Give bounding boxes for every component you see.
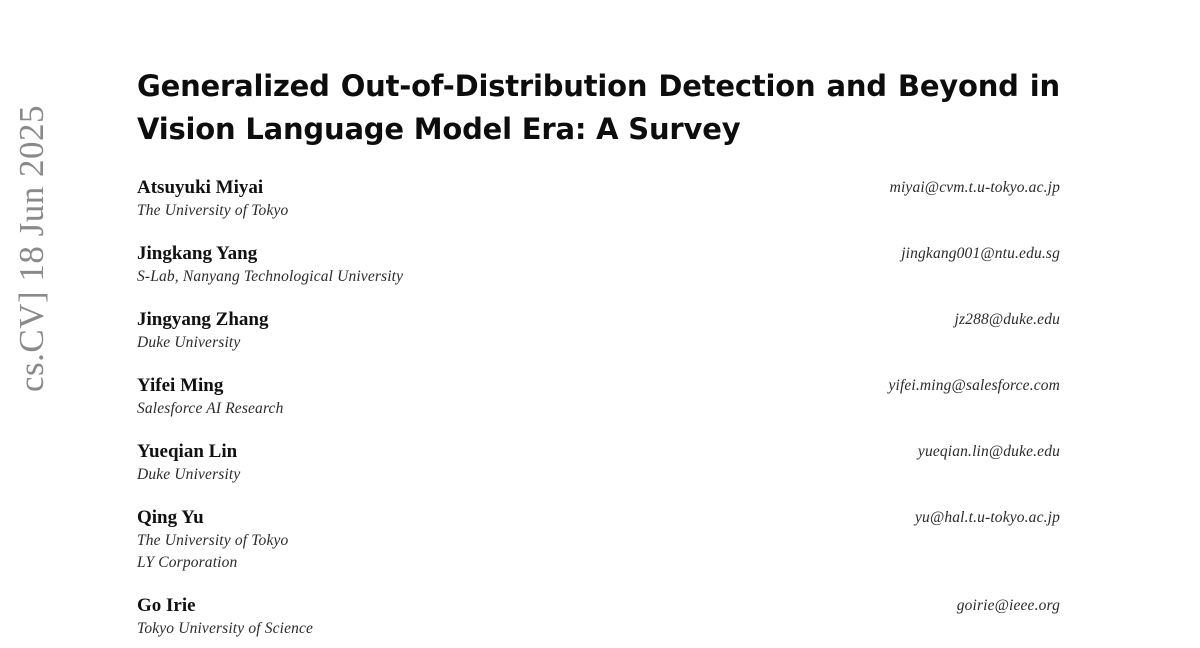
author-affiliation: Tokyo University of Science <box>137 618 1060 640</box>
author-affiliations: The University of TokyoLY Corporation <box>137 530 1060 574</box>
arxiv-identifier-stamp: cs.CV] 18 Jun 2025 <box>0 52 62 392</box>
author-affiliations: Duke University <box>137 464 1060 486</box>
author-block: Qing YuThe University of TokyoLY Corpora… <box>137 506 1060 574</box>
author-list: Atsuyuki MiyaiThe University of Tokyomiy… <box>137 176 1060 640</box>
author-affiliation: The University of Tokyo <box>137 530 1060 552</box>
author-affiliation: Duke University <box>137 332 1060 354</box>
author-block: Yueqian LinDuke Universityyueqian.lin@du… <box>137 440 1060 486</box>
author-block: Yifei MingSalesforce AI Researchyifei.mi… <box>137 374 1060 420</box>
author-email[interactable]: yueqian.lin@duke.edu <box>918 441 1060 463</box>
author-affiliations: Duke University <box>137 332 1060 354</box>
author-affiliations: Salesforce AI Research <box>137 398 1060 420</box>
author-name: Go Irie <box>137 594 1060 617</box>
author-affiliation: The University of Tokyo <box>137 200 1060 222</box>
author-affiliations: Tokyo University of Science <box>137 618 1060 640</box>
author-affiliation: Duke University <box>137 464 1060 486</box>
author-email[interactable]: yifei.ming@salesforce.com <box>888 375 1060 397</box>
author-affiliations: The University of Tokyo <box>137 200 1060 222</box>
arxiv-stamp-text: cs.CV] 18 Jun 2025 <box>14 105 49 392</box>
page-title-line-2: Vision Language Model Era: A Survey <box>137 108 1060 151</box>
author-email[interactable]: miyai@cvm.t.u-tokyo.ac.jp <box>890 177 1060 199</box>
page-title-line-1: Generalized Out-of-Distribution Detectio… <box>137 65 1060 108</box>
author-block: Jingkang YangS-Lab, Nanyang Technologica… <box>137 242 1060 288</box>
author-email[interactable]: jz288@duke.edu <box>955 309 1060 331</box>
author-email[interactable]: jingkang001@ntu.edu.sg <box>901 243 1060 265</box>
author-block: Atsuyuki MiyaiThe University of Tokyomiy… <box>137 176 1060 222</box>
author-affiliation: Salesforce AI Research <box>137 398 1060 420</box>
author-affiliation: LY Corporation <box>137 552 1060 574</box>
author-block: Jingyang ZhangDuke Universityjz288@duke.… <box>137 308 1060 354</box>
paper-title-page: Generalized Out-of-Distribution Detectio… <box>137 0 1060 648</box>
author-email[interactable]: yu@hal.t.u-tokyo.ac.jp <box>915 507 1060 529</box>
author-affiliations: S-Lab, Nanyang Technological University <box>137 266 1060 288</box>
page-title: Generalized Out-of-Distribution Detectio… <box>137 65 1060 151</box>
author-affiliation: S-Lab, Nanyang Technological University <box>137 266 1060 288</box>
author-email[interactable]: goirie@ieee.org <box>957 595 1060 617</box>
author-block: Go IrieTokyo University of Sciencegoirie… <box>137 594 1060 640</box>
author-name: Jingyang Zhang <box>137 308 1060 331</box>
